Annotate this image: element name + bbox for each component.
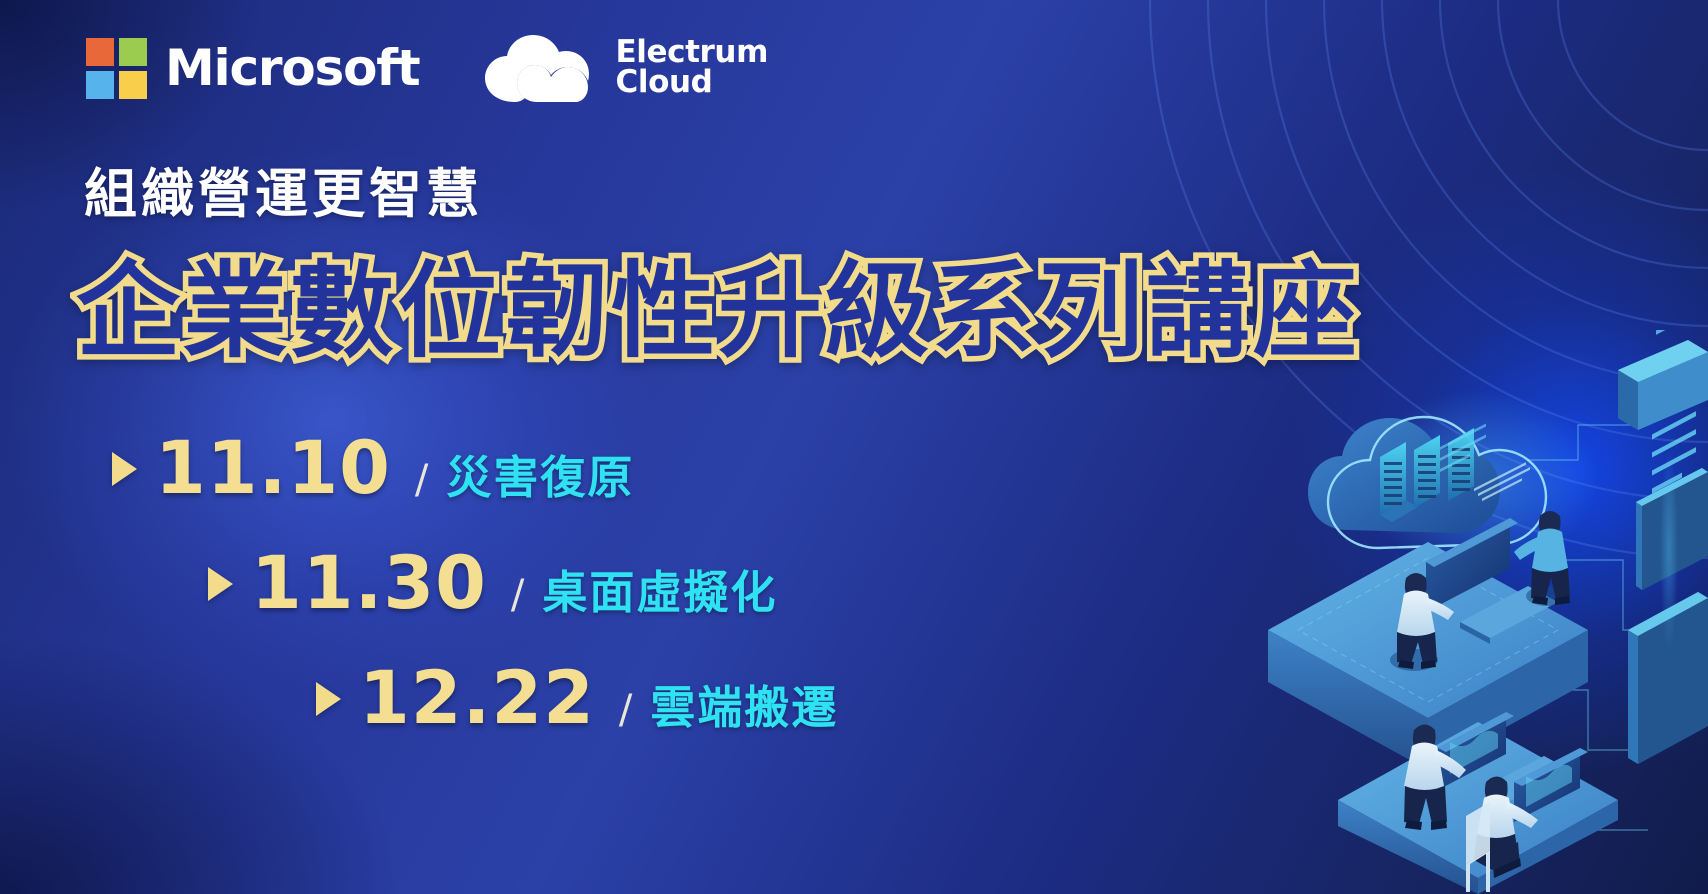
microsoft-wordmark: Microsoft <box>165 43 420 93</box>
session-separator: / <box>609 690 636 730</box>
session-topic: 災害復原 <box>446 455 634 500</box>
subtitle: 組織營運更智慧 <box>84 152 483 228</box>
microsoft-logo: Microsoft <box>86 38 420 99</box>
promo-banner: Microsoft Electrum Cloud 組織營運更智慧 企業數位韌性升… <box>0 0 1708 894</box>
session-date: 12.22 <box>359 662 595 735</box>
session-topic: 桌面虛擬化 <box>542 570 777 615</box>
microsoft-square-green <box>119 38 147 66</box>
microsoft-square-orange <box>86 38 114 66</box>
triangle-right-icon <box>112 452 137 486</box>
microsoft-square-yellow <box>119 71 147 99</box>
session-topic: 雲端搬遷 <box>650 685 838 730</box>
page-title: 企業數位韌性升級系列講座 <box>76 253 1360 369</box>
session-date: 11.10 <box>155 432 391 505</box>
triangle-right-icon <box>208 567 233 601</box>
session-separator: / <box>501 575 528 615</box>
session-schedule: 11.10 / 災害復原 11.30 / 桌面虛擬化 12.22 / 雲端搬遷 <box>0 432 900 777</box>
microsoft-square-blue <box>86 71 114 99</box>
session-separator: / <box>405 460 432 500</box>
electrum-line2: Cloud <box>616 68 768 98</box>
session-date: 11.30 <box>251 547 487 620</box>
microsoft-logo-squares <box>86 38 147 99</box>
session-row[interactable]: 12.22 / 雲端搬遷 <box>0 662 900 735</box>
cloud-icon <box>482 28 600 108</box>
logo-row: Microsoft Electrum Cloud <box>86 28 768 108</box>
electrum-cloud-logo: Electrum Cloud <box>482 28 768 108</box>
session-row[interactable]: 11.10 / 災害復原 <box>0 432 900 505</box>
triangle-right-icon <box>316 682 341 716</box>
isometric-datacenter-illustration <box>1228 330 1708 894</box>
session-row[interactable]: 11.30 / 桌面虛擬化 <box>0 547 900 620</box>
